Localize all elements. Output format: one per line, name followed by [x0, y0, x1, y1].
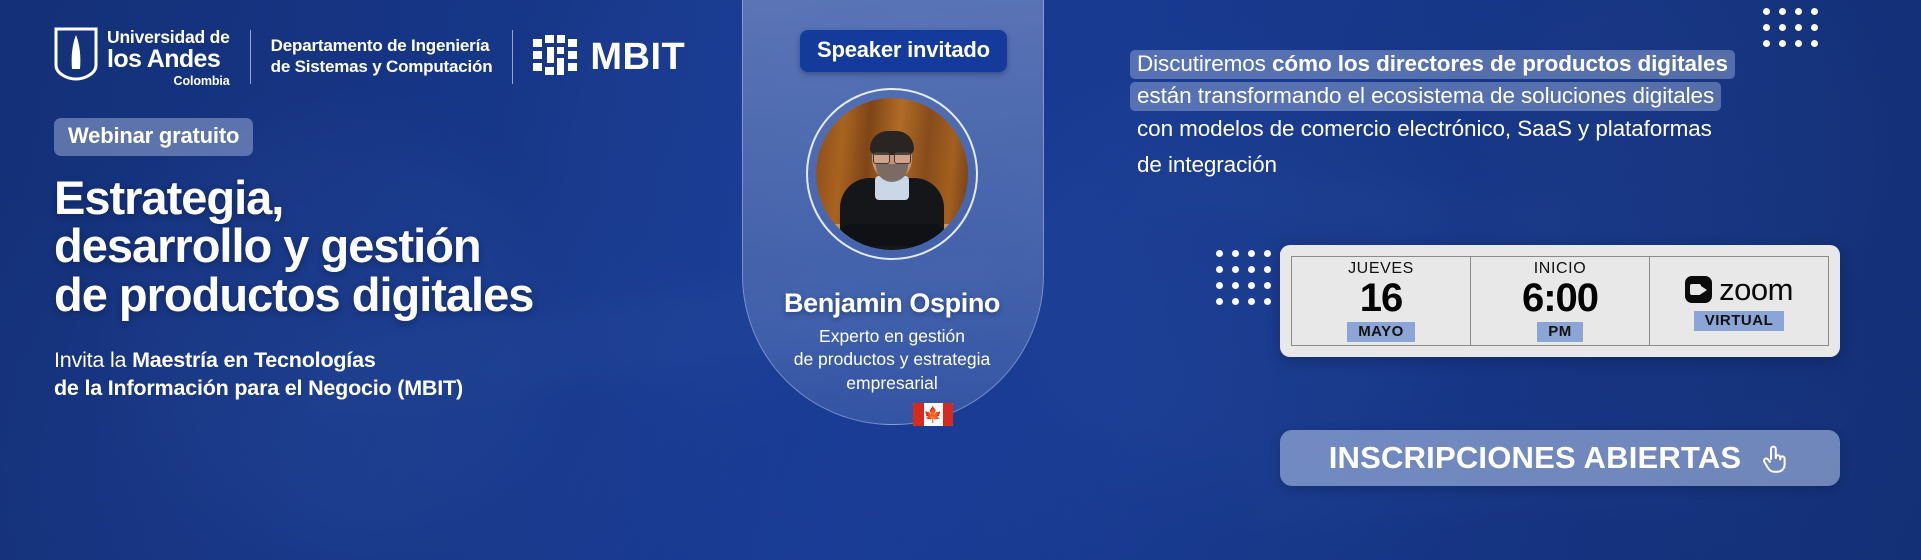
avatar-arms — [840, 224, 944, 246]
hand-click-icon — [1757, 441, 1791, 475]
university-country: Colombia — [107, 75, 230, 88]
uniandes-logo: Universidad de los Andes Colombia — [54, 27, 230, 88]
description-line-1-plain: Discutiremos — [1137, 51, 1272, 76]
event-info-card: JUEVES 16 MAYO INICIO 6:00 PM zoom VIRTU… — [1280, 245, 1840, 357]
dot-grid-decoration-mid — [1216, 250, 1287, 305]
avatar-glasses-icon — [873, 152, 911, 162]
webinar-free-badge: Webinar gratuito — [54, 118, 253, 156]
webinar-banner: Universidad de los Andes Colombia Depart… — [0, 0, 1921, 560]
speaker-name: Benjamin Ospino — [742, 288, 1042, 319]
mbit-wordmark: MBIT — [590, 36, 685, 79]
description-line-3: con modelos de comercio electrónico, Saa… — [1130, 112, 1890, 148]
canada-flag-icon: 🍁 — [913, 403, 953, 426]
description-line-2: están transformando el ecosistema de sol… — [1130, 80, 1890, 112]
zoom-camera-icon — [1685, 276, 1712, 303]
speaker-invited-badge: Speaker invitado — [800, 30, 1007, 72]
zoom-logo: zoom — [1685, 272, 1793, 308]
event-date-cell: JUEVES 16 MAYO — [1292, 257, 1471, 345]
description-text: Discutiremos cómo los directores de prod… — [1130, 48, 1890, 184]
university-line-1: Universidad de — [107, 29, 230, 47]
event-info-grid: JUEVES 16 MAYO INICIO 6:00 PM zoom VIRTU… — [1291, 256, 1829, 346]
event-time-value: 6:00 — [1522, 279, 1598, 318]
avatar-photo — [816, 98, 968, 250]
event-month-tag: MAYO — [1347, 322, 1415, 342]
uniandes-shield-icon — [54, 27, 98, 81]
logo-bar: Universidad de los Andes Colombia Depart… — [54, 26, 685, 88]
invite-bold-line-2: de la Información para el Negocio (MBIT) — [54, 376, 463, 400]
cta-label: INSCRIPCIONES ABIERTAS — [1329, 440, 1742, 476]
invite-bold-line-1: Maestría en Tecnologías — [132, 348, 376, 372]
event-meridiem-tag: PM — [1537, 322, 1583, 342]
invite-text: Invita la Maestría en Tecnologías de la … — [54, 347, 694, 403]
inscriptions-open-button[interactable]: INSCRIPCIONES ABIERTAS — [1280, 430, 1840, 486]
event-day-number: 16 — [1360, 279, 1403, 318]
event-modality-tag: VIRTUAL — [1694, 311, 1785, 331]
description-line-2-text: están transformando el ecosistema de sol… — [1130, 82, 1721, 111]
logo-divider-1 — [250, 30, 251, 84]
left-content: Webinar gratuito Estrategia, desarrollo … — [54, 118, 694, 403]
description-line-1: Discutiremos cómo los directores de prod… — [1130, 48, 1890, 80]
logo-divider-2 — [512, 30, 513, 84]
description-line-4: de integración — [1130, 148, 1890, 184]
event-time-cell: INICIO 6:00 PM — [1471, 257, 1650, 345]
avatar-person — [838, 134, 946, 250]
dot-grid-decoration-top-right — [1763, 8, 1818, 47]
event-platform-cell: zoom VIRTUAL — [1650, 257, 1828, 345]
headline: Estrategia, desarrollo y gestión de prod… — [54, 174, 694, 319]
department-name: Departamento de Ingeniería de Sistemas y… — [271, 36, 493, 77]
speaker-role: Experto en gestión de productos y estrat… — [742, 325, 1042, 395]
mbit-logo: MBIT — [533, 35, 685, 79]
description-line-1-bold: cómo los directores de productos digital… — [1272, 51, 1728, 76]
mbit-logo-icon — [533, 35, 577, 79]
description-line-4-text: de integración — [1130, 148, 1284, 184]
speaker-avatar — [806, 88, 978, 260]
university-line-2: los Andes — [107, 47, 230, 72]
description-line-3-text: con modelos de comercio electrónico, Saa… — [1130, 112, 1719, 148]
zoom-wordmark: zoom — [1719, 272, 1793, 308]
invite-prefix: Invita la — [54, 348, 132, 372]
